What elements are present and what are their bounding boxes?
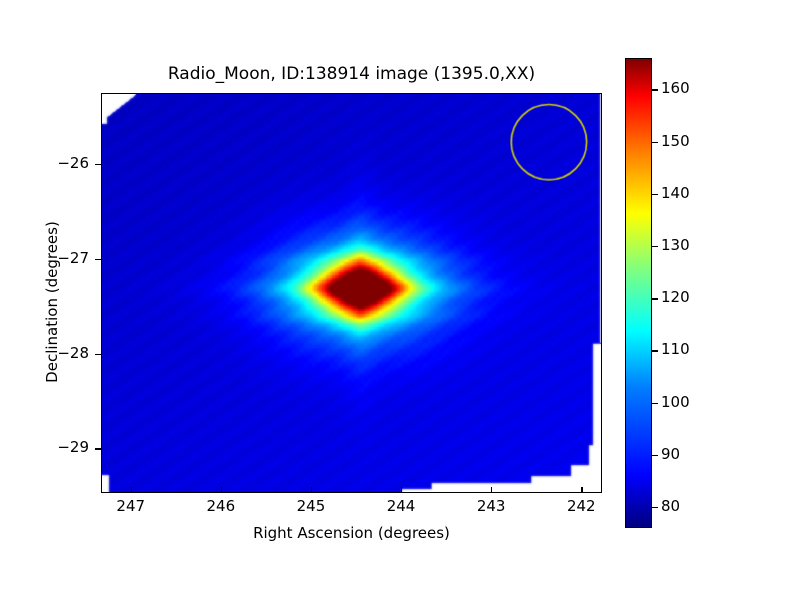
colorbar-tick-label: 150 — [661, 132, 690, 150]
y-tick-label: −28 — [33, 344, 89, 362]
x-tick-label: 247 — [101, 497, 161, 515]
x-tick-label: 246 — [191, 497, 251, 515]
y-tick-mark — [95, 164, 101, 165]
x-tick-label: 244 — [371, 497, 431, 515]
image-axes[interactable] — [101, 93, 602, 493]
colorbar-tick-label: 160 — [661, 79, 690, 97]
colorbar-tick-mark — [652, 142, 658, 143]
colorbar-tick-mark — [652, 246, 658, 247]
y-tick-label: −29 — [33, 438, 89, 456]
radio-image-heatmap — [102, 94, 601, 492]
colorbar-tick-label: 140 — [661, 184, 690, 202]
colorbar-tick-mark — [652, 298, 658, 299]
x-tick-mark — [221, 487, 222, 493]
x-tick-mark — [491, 487, 492, 493]
x-axis-label: Right Ascension (degrees) — [101, 524, 602, 542]
x-tick-mark — [131, 487, 132, 493]
colorbar-tick-mark — [652, 507, 658, 508]
colorbar-tick-mark — [652, 455, 658, 456]
y-tick-label: −27 — [33, 249, 89, 267]
x-tick-mark — [401, 487, 402, 493]
y-tick-mark — [95, 259, 101, 260]
figure-canvas: Radio_Moon, ID:138914 image (1395.0,XX) … — [0, 0, 800, 600]
colorbar-tick-label: 110 — [661, 340, 690, 358]
colorbar-tick-label: 100 — [661, 393, 690, 411]
colorbar[interactable] — [625, 58, 652, 528]
colorbar-tick-label: 120 — [661, 288, 690, 306]
colorbar-tick-label: 90 — [661, 445, 680, 463]
colorbar-tick-mark — [652, 403, 658, 404]
y-tick-mark — [95, 448, 101, 449]
x-tick-label: 245 — [281, 497, 341, 515]
x-tick-mark — [581, 487, 582, 493]
colorbar-tick-label: 130 — [661, 236, 690, 254]
colorbar-tick-mark — [652, 350, 658, 351]
y-tick-mark — [95, 354, 101, 355]
x-tick-label: 242 — [551, 497, 611, 515]
x-tick-mark — [311, 487, 312, 493]
colorbar-tick-label: 80 — [661, 497, 680, 515]
y-tick-label: −26 — [33, 154, 89, 172]
y-axis-label: Declination (degrees) — [43, 152, 61, 452]
colorbar-tick-mark — [652, 89, 658, 90]
page-title: Radio_Moon, ID:138914 image (1395.0,XX) — [101, 64, 602, 84]
x-tick-label: 243 — [461, 497, 521, 515]
colorbar-tick-mark — [652, 194, 658, 195]
